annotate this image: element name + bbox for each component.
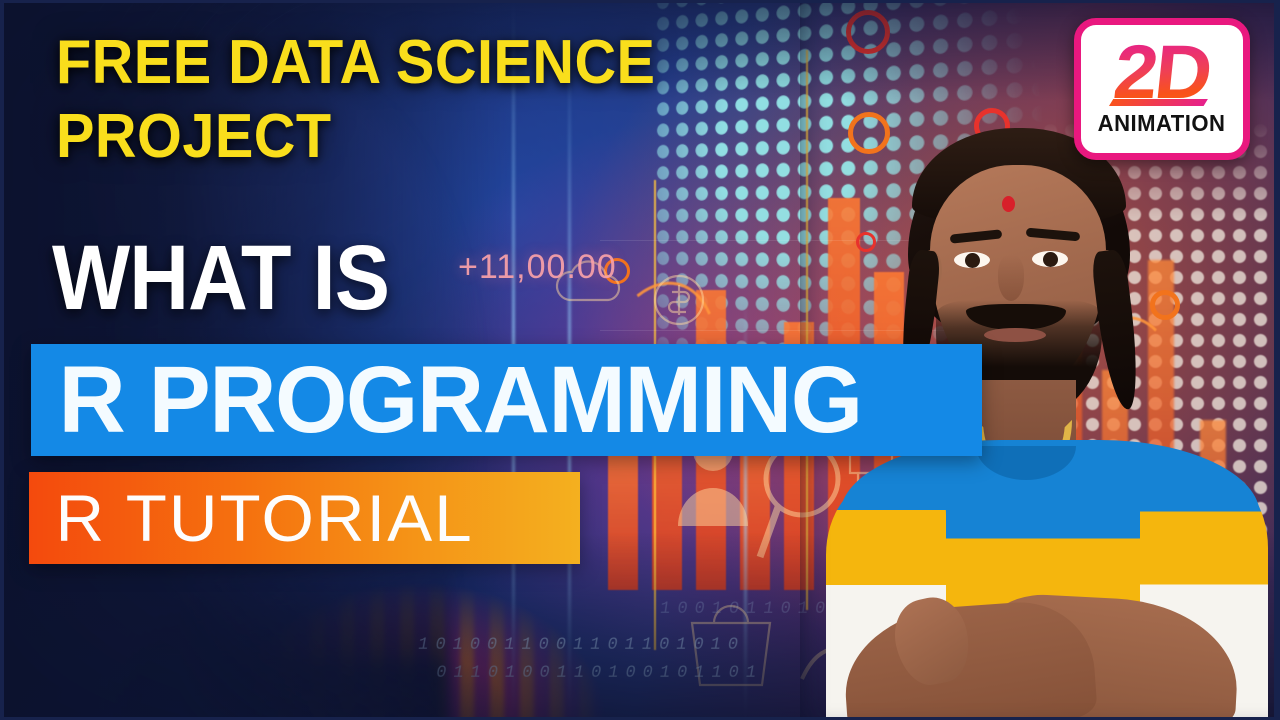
- headline-main-text: R PROGRAMMING: [31, 353, 862, 448]
- channel-logo[interactable]: 2D ANIMATION: [1074, 18, 1250, 160]
- kicker-line-2: PROJECT: [56, 108, 744, 166]
- youtube-thumbnail: 1010011001101101010 0110100110100101101 …: [0, 0, 1280, 720]
- headline-small: WHAT IS: [52, 232, 389, 324]
- ticker-value-text: +11,00.00: [458, 248, 617, 287]
- subtitle-bar: R TUTORIAL: [29, 472, 580, 564]
- logo-wordmark: ANIMATION: [1098, 110, 1226, 137]
- kicker-line-1: FREE DATA SCIENCE: [56, 28, 655, 97]
- headline-main-bar: R PROGRAMMING: [31, 344, 982, 456]
- subtitle-text: R TUTORIAL: [29, 485, 474, 551]
- kicker-heading: FREE DATA SCIENCE PROJECT: [56, 34, 744, 167]
- logo-mark-2d: 2D: [1111, 41, 1213, 106]
